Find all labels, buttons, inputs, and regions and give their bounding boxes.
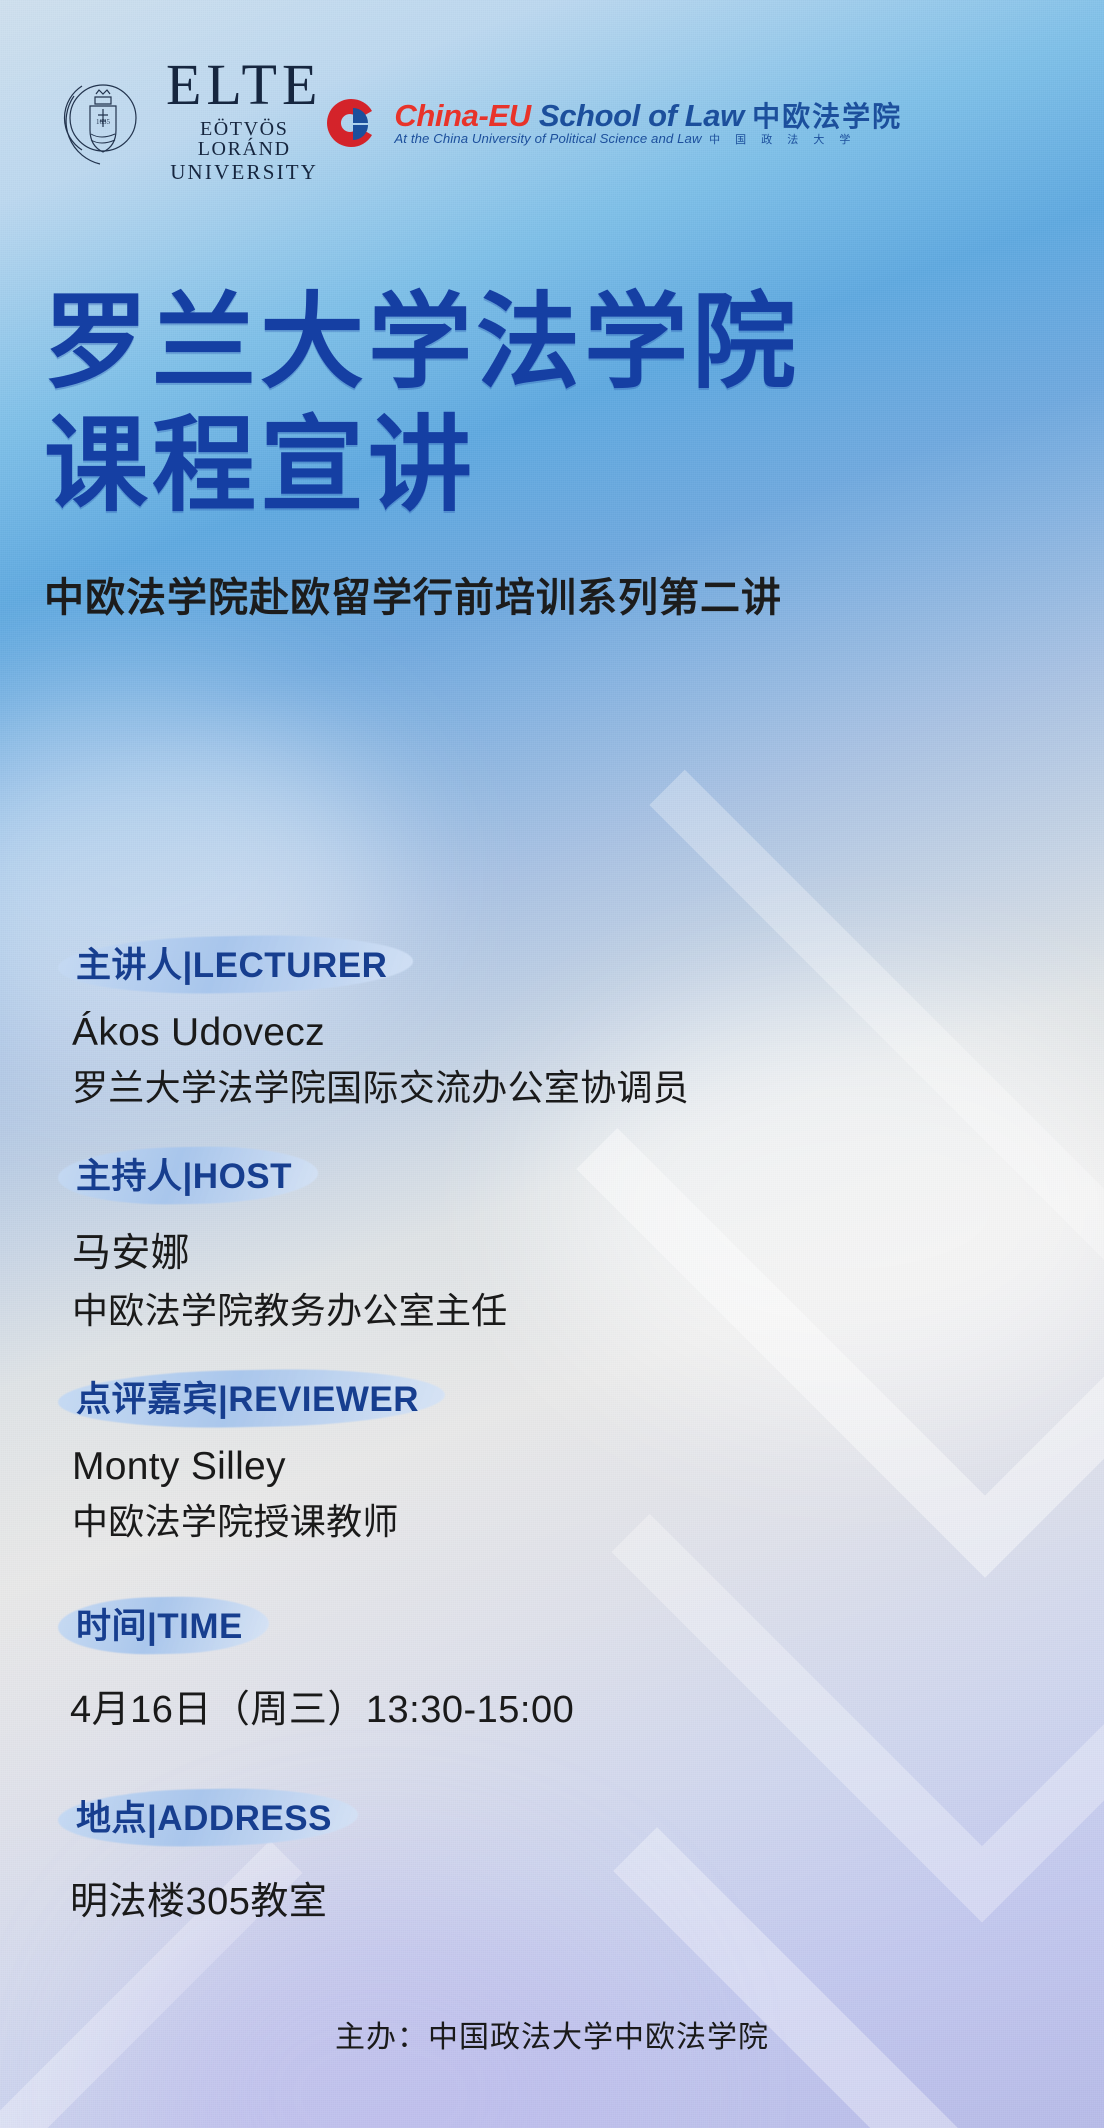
lecturer-label-pill: 主讲人|LECTURER bbox=[58, 930, 413, 997]
cesl-sub-cn: 中 国 政 法 大 学 bbox=[709, 134, 856, 146]
host-label-pill: 主持人|HOST bbox=[58, 1141, 318, 1208]
lecturer-label: 主讲人|LECTURER bbox=[76, 946, 387, 985]
reviewer-name: Monty Silley bbox=[72, 1445, 1044, 1489]
title-line-2: 课程宣讲 bbox=[44, 405, 1064, 528]
elte-wordmark: ELTE EÖTVÖS LORÁND UNIVERSITY bbox=[166, 56, 322, 183]
host-role: 中欧法学院教务办公室主任 bbox=[72, 1282, 1044, 1334]
reviewer-label: 点评嘉宾|REVIEWER bbox=[76, 1380, 419, 1419]
time-value: 4月16日（周三）13:30-15:00 bbox=[70, 1678, 1044, 1733]
section-host: 主持人|HOST 马安娜 中欧法学院教务办公室主任 bbox=[58, 1141, 1044, 1334]
elte-name: ELTE bbox=[166, 56, 322, 114]
china-eu-c-mark-icon bbox=[322, 96, 380, 150]
poster-footer-organizer: 主办：中国政法大学中欧法学院 bbox=[0, 2012, 1104, 2056]
reviewer-role: 中欧法学院授课教师 bbox=[72, 1493, 1044, 1545]
elte-crest-icon: 1635 bbox=[56, 72, 148, 168]
lecturer-role: 罗兰大学法学院国际交流办公室协调员 bbox=[72, 1059, 1044, 1111]
address-label-pill: 地点|ADDRESS bbox=[58, 1783, 358, 1850]
china-eu-wordmark: China-EU School of Law 中欧法学院 At the Chin… bbox=[394, 100, 1064, 147]
lecturer-name: Ákos Udovecz bbox=[72, 1011, 1044, 1055]
china-eu-school-of-law-logo: China-EU School of Law 中欧法学院 At the Chin… bbox=[322, 96, 1064, 150]
section-address: 地点|ADDRESS 明法楼305教室 bbox=[58, 1783, 1044, 1925]
poster-header: 1635 ELTE EÖTVÖS LORÁND UNIVERSITY China… bbox=[0, 56, 1104, 183]
poster-title-block: 罗兰大学法学院 课程宣讲 中欧法学院赴欧留学行前培训系列第二讲 bbox=[44, 282, 1064, 623]
elte-logo: 1635 ELTE EÖTVÖS LORÁND UNIVERSITY bbox=[56, 56, 322, 183]
poster-details: 主讲人|LECTURER Ákos Udovecz 罗兰大学法学院国际交流办公室… bbox=[58, 930, 1044, 1955]
svg-text:1635: 1635 bbox=[96, 118, 111, 126]
cesl-name-red: China-EU bbox=[394, 98, 530, 133]
title-line-1: 罗兰大学法学院 bbox=[44, 282, 1064, 405]
cesl-name-blue: School of Law bbox=[531, 98, 744, 133]
address-label: 地点|ADDRESS bbox=[76, 1799, 332, 1838]
cesl-sub-en: At the China University of Political Sci… bbox=[394, 131, 701, 146]
section-reviewer: 点评嘉宾|REVIEWER Monty Silley 中欧法学院授课教师 bbox=[58, 1364, 1044, 1545]
cesl-subtitle-line: At the China University of Political Sci… bbox=[394, 131, 856, 146]
time-label: 时间|TIME bbox=[76, 1607, 243, 1646]
event-poster: 1635 ELTE EÖTVÖS LORÁND UNIVERSITY China… bbox=[0, 0, 1104, 2128]
address-value: 明法楼305教室 bbox=[70, 1870, 1044, 1925]
elte-subline-1: EÖTVÖS LORÁND bbox=[166, 119, 322, 159]
poster-subtitle: 中欧法学院赴欧留学行前培训系列第二讲 bbox=[44, 565, 1064, 623]
section-time: 时间|TIME 4月16日（周三）13:30-15:00 bbox=[58, 1591, 1044, 1733]
section-lecturer: 主讲人|LECTURER Ákos Udovecz 罗兰大学法学院国际交流办公室… bbox=[58, 930, 1044, 1111]
reviewer-label-pill: 点评嘉宾|REVIEWER bbox=[58, 1364, 445, 1431]
cesl-name-cn: 中欧法学院 bbox=[752, 101, 902, 132]
host-name: 马安娜 bbox=[72, 1222, 1044, 1278]
host-label: 主持人|HOST bbox=[76, 1157, 292, 1196]
cesl-title-line: China-EU School of Law 中欧法学院 bbox=[394, 98, 902, 133]
time-label-pill: 时间|TIME bbox=[58, 1591, 269, 1658]
elte-subline-2: UNIVERSITY bbox=[166, 162, 322, 183]
